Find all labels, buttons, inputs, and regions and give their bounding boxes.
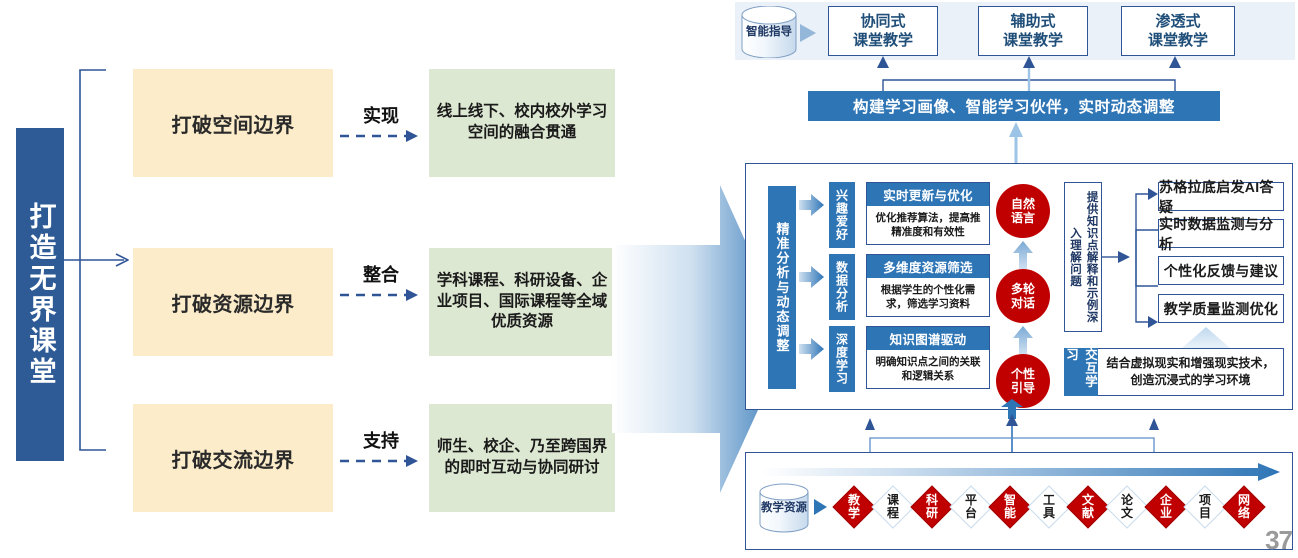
output-box-1[interactable]: 苏格拉底启发AI答疑: [1158, 182, 1284, 211]
cylinder-label-line1: 智能指导: [746, 25, 792, 39]
banner-to-modes-connector: [855, 54, 1235, 94]
stage-card-1-body: 优化推荐算法，提高推精准度和有效性: [867, 206, 989, 244]
capability-circle-1-line1: 自然: [1011, 197, 1035, 211]
stage-arrow-2-icon: [798, 264, 826, 290]
resource-diamond-4[interactable]: 平台: [949, 485, 993, 529]
relation-label-3: 支持: [338, 427, 424, 453]
capability-circle-2[interactable]: 多轮 对话: [996, 269, 1050, 323]
resource-diamond-9[interactable]: 企业: [1144, 485, 1188, 529]
stage-card-3-body: 明确知识点之间的关联和逻辑关系: [867, 350, 989, 388]
capability-circle-3-line2: 引导: [1011, 381, 1035, 395]
resource-diamond-7[interactable]: 文献: [1066, 485, 1110, 529]
resource-diamond-label: 工具: [1043, 494, 1055, 520]
resource-diamond-8[interactable]: 论文: [1105, 485, 1149, 529]
output-box-2[interactable]: 实时数据监测与分析: [1158, 219, 1284, 248]
left-brace-connector: [64, 60, 134, 480]
resource-diamond-label: 智能: [1004, 494, 1016, 520]
resource-cylinder-arrow-icon: [812, 497, 830, 517]
knowledge-explanation-box[interactable]: 提供知识点解释和示例深入理解问题: [1064, 182, 1102, 332]
resource-diamond-chain: 教学课程科研平台智能工具文献论文企业项目网络: [832, 485, 1282, 535]
cylinder-label-group: 智能指导: [740, 6, 798, 58]
capability-circle-1-line2: 语言: [1011, 211, 1035, 225]
circle-arrow-up-2-icon: [1012, 325, 1034, 355]
relation-label-1: 实现: [338, 102, 424, 128]
bottom-to-middle-connectors: [860, 412, 1298, 456]
intelligent-guidance-cylinder: 智能指导: [740, 6, 798, 58]
resource-diamond-label: 平台: [965, 494, 977, 520]
resource-diamond-label: 论文: [1121, 494, 1133, 520]
stage-arrow-1-icon: [798, 192, 826, 218]
resource-diamond-11[interactable]: 网络: [1222, 485, 1266, 529]
detail-box-3[interactable]: 师生、校企、乃至跨国界的即时互动与协同研讨: [429, 404, 615, 512]
mode-box-1-line1: 协同式: [853, 12, 913, 32]
circle-arrow-up-1-icon: [1012, 240, 1034, 270]
stage-tag-2[interactable]: 数据分析: [829, 254, 855, 320]
relation-label-2: 整合: [338, 261, 424, 287]
stage-tag-3[interactable]: 深度学习: [829, 326, 855, 392]
stage-card-2[interactable]: 多维度资源筛选 根据学生的个性化需求，筛选学习资料: [866, 254, 990, 317]
resource-flow-arrow-icon: [762, 463, 1280, 481]
banner-construct-profile: 构建学习画像、智能学习伙伴，实时动态调整: [808, 91, 1220, 121]
category-box-3[interactable]: 打破交流边界: [133, 404, 333, 512]
cylinder-bottom-label: 教学资源: [761, 501, 807, 515]
output-box-3[interactable]: 个性化反馈与建议: [1158, 256, 1284, 285]
knowledge-to-outputs-connector: [1102, 182, 1158, 332]
mode-box-1[interactable]: 协同式 课堂教学: [828, 6, 938, 56]
capability-circle-2-line2: 对话: [1011, 296, 1035, 310]
interactive-learning-desc: 结合虚拟现实和增强现实技术，创造沉浸式的学习环境: [1098, 348, 1284, 396]
stage-card-1-title: 实时更新与优化: [867, 183, 989, 206]
resource-diamond-label: 文献: [1082, 494, 1094, 520]
teaching-resource-cylinder: 教学资源: [758, 483, 810, 533]
resource-diamond-3[interactable]: 科研: [910, 485, 954, 529]
relation-group-3: 支持: [338, 425, 424, 471]
mode-box-2-line2: 课堂教学: [1003, 31, 1063, 51]
resource-diamond-6[interactable]: 工具: [1027, 485, 1071, 529]
mode-box-1-line2: 课堂教学: [853, 31, 913, 51]
resource-diamond-label: 企业: [1160, 494, 1172, 520]
page-number: 37: [1265, 525, 1292, 556]
mode-box-2[interactable]: 辅助式 课堂教学: [978, 6, 1088, 56]
interactive-learning-tag[interactable]: 交互学习: [1064, 348, 1098, 396]
relation-group-2: 整合: [338, 259, 424, 305]
cylinder-to-modes-arrow-icon: [798, 22, 820, 44]
resource-diamond-5[interactable]: 智能: [988, 485, 1032, 529]
stage-card-2-title: 多维度资源筛选: [867, 255, 989, 278]
detail-box-1[interactable]: 线上线下、校内校外学习空间的融合贯通: [429, 69, 615, 177]
capability-circle-2-line1: 多轮: [1011, 282, 1035, 296]
mode-box-3[interactable]: 渗透式 课堂教学: [1121, 6, 1235, 56]
resource-diamond-label: 网络: [1238, 494, 1250, 520]
relation-arrow-1: [338, 128, 424, 144]
teaching-resource-panel: 教学资源 教学课程科研平台智能工具文献论文企业项目网络: [745, 452, 1293, 550]
page-title-vertical: 打造无界课堂: [16, 128, 64, 461]
stage-tag-1[interactable]: 兴趣爱好: [829, 182, 855, 248]
stage-card-3[interactable]: 知识图谱驱动 明确知识点之间的关联和逻辑关系: [866, 326, 990, 389]
banner-down-stem: [1008, 121, 1024, 167]
precise-analysis-bar: 精准分析与动态调整: [768, 186, 796, 389]
detail-box-2[interactable]: 学科课程、科研设备、企业项目、国际课程等全域优质资源: [429, 248, 615, 356]
resource-diamond-label: 教学: [848, 494, 860, 520]
stage-card-3-title: 知识图谱驱动: [867, 327, 989, 350]
middle-detail-panel: 精准分析与动态调整 兴趣爱好 数据分析 深度学习 实时更新与优化 优化推荐算法，…: [745, 163, 1293, 410]
relation-arrow-2: [338, 287, 424, 303]
resource-diamond-label: 科研: [926, 494, 938, 520]
category-box-1[interactable]: 打破空间边界: [133, 69, 333, 177]
cylinder-bottom-label-group: 教学资源: [758, 483, 810, 533]
stage-arrow-3-icon: [798, 336, 826, 362]
mode-box-3-line1: 渗透式: [1148, 12, 1208, 32]
capability-circle-1[interactable]: 自然 语言: [996, 184, 1050, 238]
relation-group-1: 实现: [338, 100, 424, 146]
output-box-4[interactable]: 教学质量监测优化: [1158, 294, 1284, 323]
mode-box-3-line2: 课堂教学: [1148, 31, 1208, 51]
mode-box-2-line1: 辅助式: [1003, 12, 1063, 32]
resource-diamond-1[interactable]: 教学: [832, 485, 876, 529]
resource-diamond-label: 项目: [1199, 494, 1211, 520]
relation-arrow-3: [338, 453, 424, 469]
slide-canvas: 打造无界课堂 打破空间边界 实现 线上线下、校内校外学习空间的融合贯通 打破资源…: [0, 0, 1298, 558]
category-box-2[interactable]: 打破资源边界: [133, 248, 333, 356]
resource-diamond-label: 课程: [887, 494, 899, 520]
stage-card-1[interactable]: 实时更新与优化 优化推荐算法，提高推精准度和有效性: [866, 182, 990, 245]
stage-card-2-body: 根据学生的个性化需求，筛选学习资料: [867, 278, 989, 316]
resource-diamond-2[interactable]: 课程: [871, 485, 915, 529]
capability-circle-3-line1: 个性: [1011, 367, 1035, 381]
resource-diamond-10[interactable]: 项目: [1183, 485, 1227, 529]
